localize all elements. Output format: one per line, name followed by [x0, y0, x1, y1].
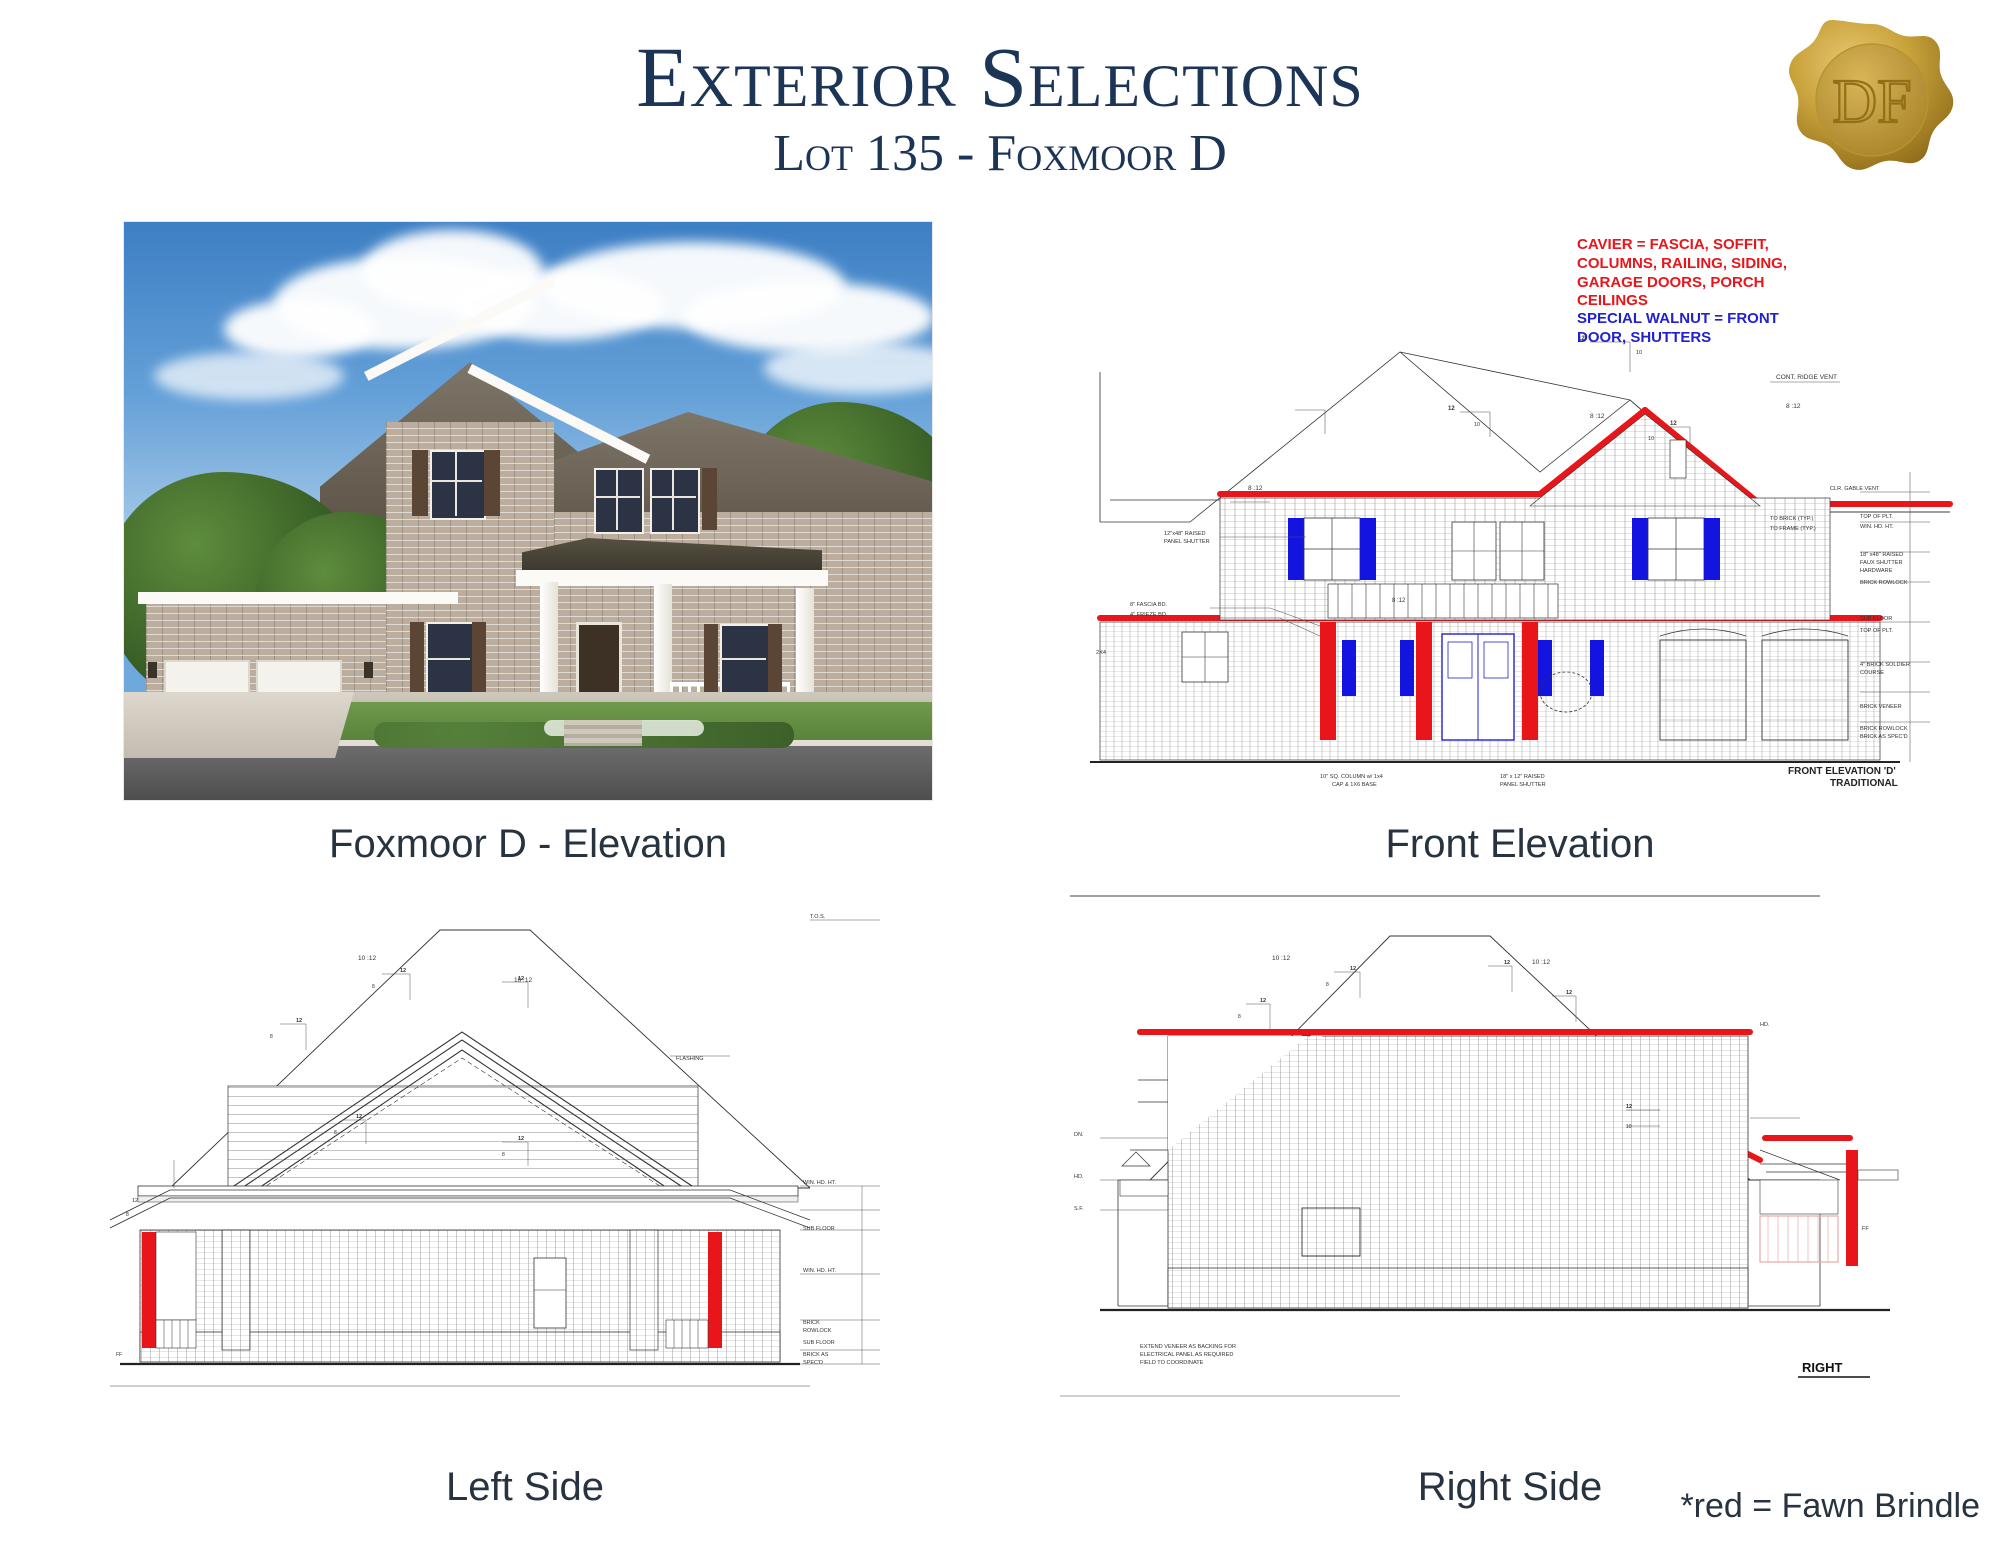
svg-text:WIN. HD. HT.: WIN. HD. HT. — [1860, 524, 1894, 530]
window-muntin — [616, 468, 618, 530]
svg-text:8: 8 — [334, 1130, 337, 1136]
svg-text:12: 12 — [296, 1018, 302, 1024]
svg-text:12: 12 — [1670, 421, 1677, 427]
svg-text:8 :12: 8 :12 — [1248, 485, 1263, 492]
svg-text:2X4: 2X4 — [1096, 650, 1106, 656]
svg-text:HARDWARE: HARDWARE — [1860, 568, 1893, 574]
window — [430, 450, 486, 520]
svg-text:10 :12: 10 :12 — [1532, 959, 1550, 966]
svg-text:CONT. RIDGE VENT: CONT. RIDGE VENT — [1776, 374, 1837, 381]
svg-text:COURSE: COURSE — [1860, 670, 1884, 676]
svg-text:FIELD TO COORDINATE: FIELD TO COORDINATE — [1140, 1360, 1204, 1366]
note-special-walnut: SPECIAL WALNUT = FRONT DOOR, SHUTTERS — [1577, 310, 1779, 348]
svg-text:12: 12 — [1566, 990, 1572, 996]
drawing-right-side: 10 :12 10 :12 12 8 12 8 12 12 HD. DN. HD… — [1060, 880, 1960, 1400]
shutter — [768, 624, 782, 700]
svg-text:12: 12 — [1448, 406, 1455, 412]
svg-text:8: 8 — [270, 1034, 273, 1040]
svg-text:8 :12: 8 :12 — [1786, 403, 1801, 410]
svg-text:FLASHING: FLASHING — [676, 1056, 704, 1062]
svg-text:10: 10 — [1626, 1124, 1632, 1130]
page-header: Exterior Selections Lot 135 - Foxmoor D — [0, 0, 2000, 190]
svg-text:FF: FF — [116, 1352, 122, 1358]
window-muntin — [672, 468, 674, 530]
svg-text:10 :12: 10 :12 — [1272, 955, 1290, 962]
shutter — [704, 624, 718, 700]
svg-text:SPEC'D: SPEC'D — [803, 1360, 823, 1366]
svg-text:EXTEND VENEER AS BACKING FOR: EXTEND VENEER AS BACKING FOR — [1140, 1344, 1236, 1350]
svg-text:12: 12 — [518, 976, 524, 982]
cloud — [154, 352, 344, 400]
wax-seal-icon: DF — [1782, 18, 1962, 188]
svg-text:BRICK ROWLOCK: BRICK ROWLOCK — [1860, 580, 1908, 586]
wax-seal-logo: DF — [1782, 18, 1962, 188]
svg-text:4" BRICK SOLDIER: 4" BRICK SOLDIER — [1860, 662, 1910, 668]
cloud — [224, 300, 374, 358]
svg-text:TOP OF PLT.: TOP OF PLT. — [1860, 514, 1893, 520]
right-side-label: RIGHT — [1802, 1360, 1843, 1375]
window-muntin — [426, 658, 470, 660]
svg-text:S.F.: S.F. — [1074, 1206, 1084, 1212]
svg-text:18" x 12" RAISED: 18" x 12" RAISED — [1500, 774, 1545, 780]
svg-text:12"x48" RAISED: 12"x48" RAISED — [1164, 531, 1206, 537]
svg-text:8: 8 — [372, 984, 375, 990]
rendering-image-foxmoor-d — [124, 222, 932, 800]
svg-text:10: 10 — [1636, 350, 1642, 356]
page-title: Exterior Selections — [0, 34, 2000, 120]
svg-text:BRICK VENEER: BRICK VENEER — [1860, 704, 1902, 710]
cloud — [684, 282, 932, 352]
svg-text:8 :12: 8 :12 — [1392, 598, 1406, 604]
seal-monogram-text: DF — [1832, 68, 1911, 136]
svg-text:SUB FLOOR: SUB FLOOR — [803, 1226, 835, 1232]
front-elevation-svg: CONT. RIDGE VENT 8 :12 8 :12 8 :12 8 :12… — [1070, 222, 1970, 802]
driveway — [124, 692, 354, 758]
svg-text:8: 8 — [502, 1152, 505, 1158]
front-elevation-title-line2: TRADITIONAL — [1830, 778, 1898, 789]
caption-front-elevation: Front Elevation — [1070, 822, 1970, 867]
shutter — [410, 622, 424, 700]
right-side-svg: 10 :12 10 :12 12 8 12 8 12 12 HD. DN. HD… — [1060, 880, 1960, 1400]
svg-text:SUB FLOOR: SUB FLOOR — [1860, 616, 1892, 622]
window — [650, 468, 700, 534]
svg-text:12: 12 — [1626, 1104, 1632, 1110]
svg-text:ELECTRICAL PANEL AS REQUIRED: ELECTRICAL PANEL AS REQUIRED — [1140, 1352, 1233, 1358]
svg-text:CLR. GABLE VENT: CLR. GABLE VENT — [1830, 486, 1880, 492]
svg-text:BRICK: BRICK — [803, 1320, 820, 1326]
svg-text:BRICK AS SPEC'D: BRICK AS SPEC'D — [1860, 734, 1908, 740]
svg-text:TO FRAME (TYP.): TO FRAME (TYP.) — [1770, 526, 1816, 532]
page-subtitle: Lot 135 - Foxmoor D — [0, 128, 2000, 180]
svg-text:BRICK AS: BRICK AS — [803, 1352, 829, 1358]
svg-text:FF: FF — [1862, 1226, 1869, 1232]
svg-text:WIN. HD. HT.: WIN. HD. HT. — [803, 1180, 836, 1186]
note-cavier: CAVIER = FASCIA, SOFFIT, COLUMNS, RAILIN… — [1577, 236, 1787, 311]
shutter — [484, 450, 500, 516]
left-side-svg: 10 :12 10 :12 12 8 12 8 12 12 8 12 8 T.O… — [110, 890, 940, 1390]
porch-fascia — [516, 570, 828, 586]
shutter — [702, 468, 717, 530]
svg-text:HD.: HD. — [1760, 1022, 1770, 1028]
svg-text:12: 12 — [518, 1136, 524, 1142]
svg-text:4" FRIEZE BD.: 4" FRIEZE BD. — [1130, 612, 1168, 618]
window-muntin — [720, 658, 766, 660]
svg-text:8: 8 — [1326, 982, 1329, 988]
coach-light — [148, 662, 157, 678]
svg-text:18" x48" RAISED: 18" x48" RAISED — [1860, 552, 1903, 558]
svg-text:FAUX SHUTTER: FAUX SHUTTER — [1860, 560, 1903, 566]
svg-text:DN.: DN. — [1074, 1132, 1084, 1138]
svg-text:WIN. HD. HT.: WIN. HD. HT. — [803, 1268, 836, 1274]
svg-text:10: 10 — [1648, 436, 1654, 442]
shutter — [412, 450, 428, 516]
svg-text:8: 8 — [1238, 1014, 1241, 1020]
caption-left-side: Left Side — [110, 1465, 940, 1510]
caption-foxmoor-elevation: Foxmoor D - Elevation — [124, 822, 932, 867]
svg-text:TO BRICK (TYP.): TO BRICK (TYP.) — [1770, 516, 1813, 522]
svg-text:8" FASCIA BD.: 8" FASCIA BD. — [1130, 602, 1168, 608]
svg-text:8 :12: 8 :12 — [1590, 413, 1605, 420]
svg-text:10 :12: 10 :12 — [358, 955, 376, 962]
window — [594, 468, 644, 534]
svg-text:12: 12 — [132, 1198, 138, 1204]
svg-text:TOP OF PLT.: TOP OF PLT. — [1860, 628, 1893, 634]
drawing-left-side: 10 :12 10 :12 12 8 12 8 12 12 8 12 8 T.O… — [110, 890, 940, 1390]
svg-text:12: 12 — [1504, 960, 1510, 966]
window-muntin — [455, 450, 457, 516]
footnote-red-legend: *red = Fawn Brindle — [1560, 1487, 1980, 1526]
svg-text:BRICK ROWLOCK: BRICK ROWLOCK — [1860, 726, 1908, 732]
svg-text:T.O.S.: T.O.S. — [810, 914, 826, 920]
svg-text:SUB FLOOR: SUB FLOOR — [803, 1340, 835, 1346]
svg-text:HD.: HD. — [1074, 1174, 1084, 1180]
shutter — [472, 622, 486, 700]
svg-text:12: 12 — [400, 968, 406, 974]
garage-eave-trim — [138, 592, 458, 604]
drawing-front-elevation: CONT. RIDGE VENT 8 :12 8 :12 8 :12 8 :12… — [1070, 222, 1970, 802]
svg-text:10" SQ. COLUMN w/ 1x4: 10" SQ. COLUMN w/ 1x4 — [1320, 774, 1383, 780]
front-steps — [564, 720, 642, 746]
svg-text:12: 12 — [356, 1114, 362, 1120]
svg-text:8: 8 — [126, 1212, 129, 1218]
svg-text:PANEL SHUTTER: PANEL SHUTTER — [1164, 539, 1210, 545]
svg-text:PANEL SHUTTER: PANEL SHUTTER — [1500, 782, 1546, 788]
svg-text:ROWLOCK: ROWLOCK — [803, 1328, 832, 1334]
coach-light — [364, 662, 373, 678]
front-elevation-title-line1: FRONT ELEVATION 'D' — [1788, 766, 1896, 777]
svg-text:12: 12 — [1260, 998, 1266, 1004]
svg-text:10: 10 — [1474, 422, 1480, 428]
svg-text:12: 12 — [1350, 966, 1356, 972]
svg-text:CAP & 1X6 BASE: CAP & 1X6 BASE — [1332, 782, 1377, 788]
